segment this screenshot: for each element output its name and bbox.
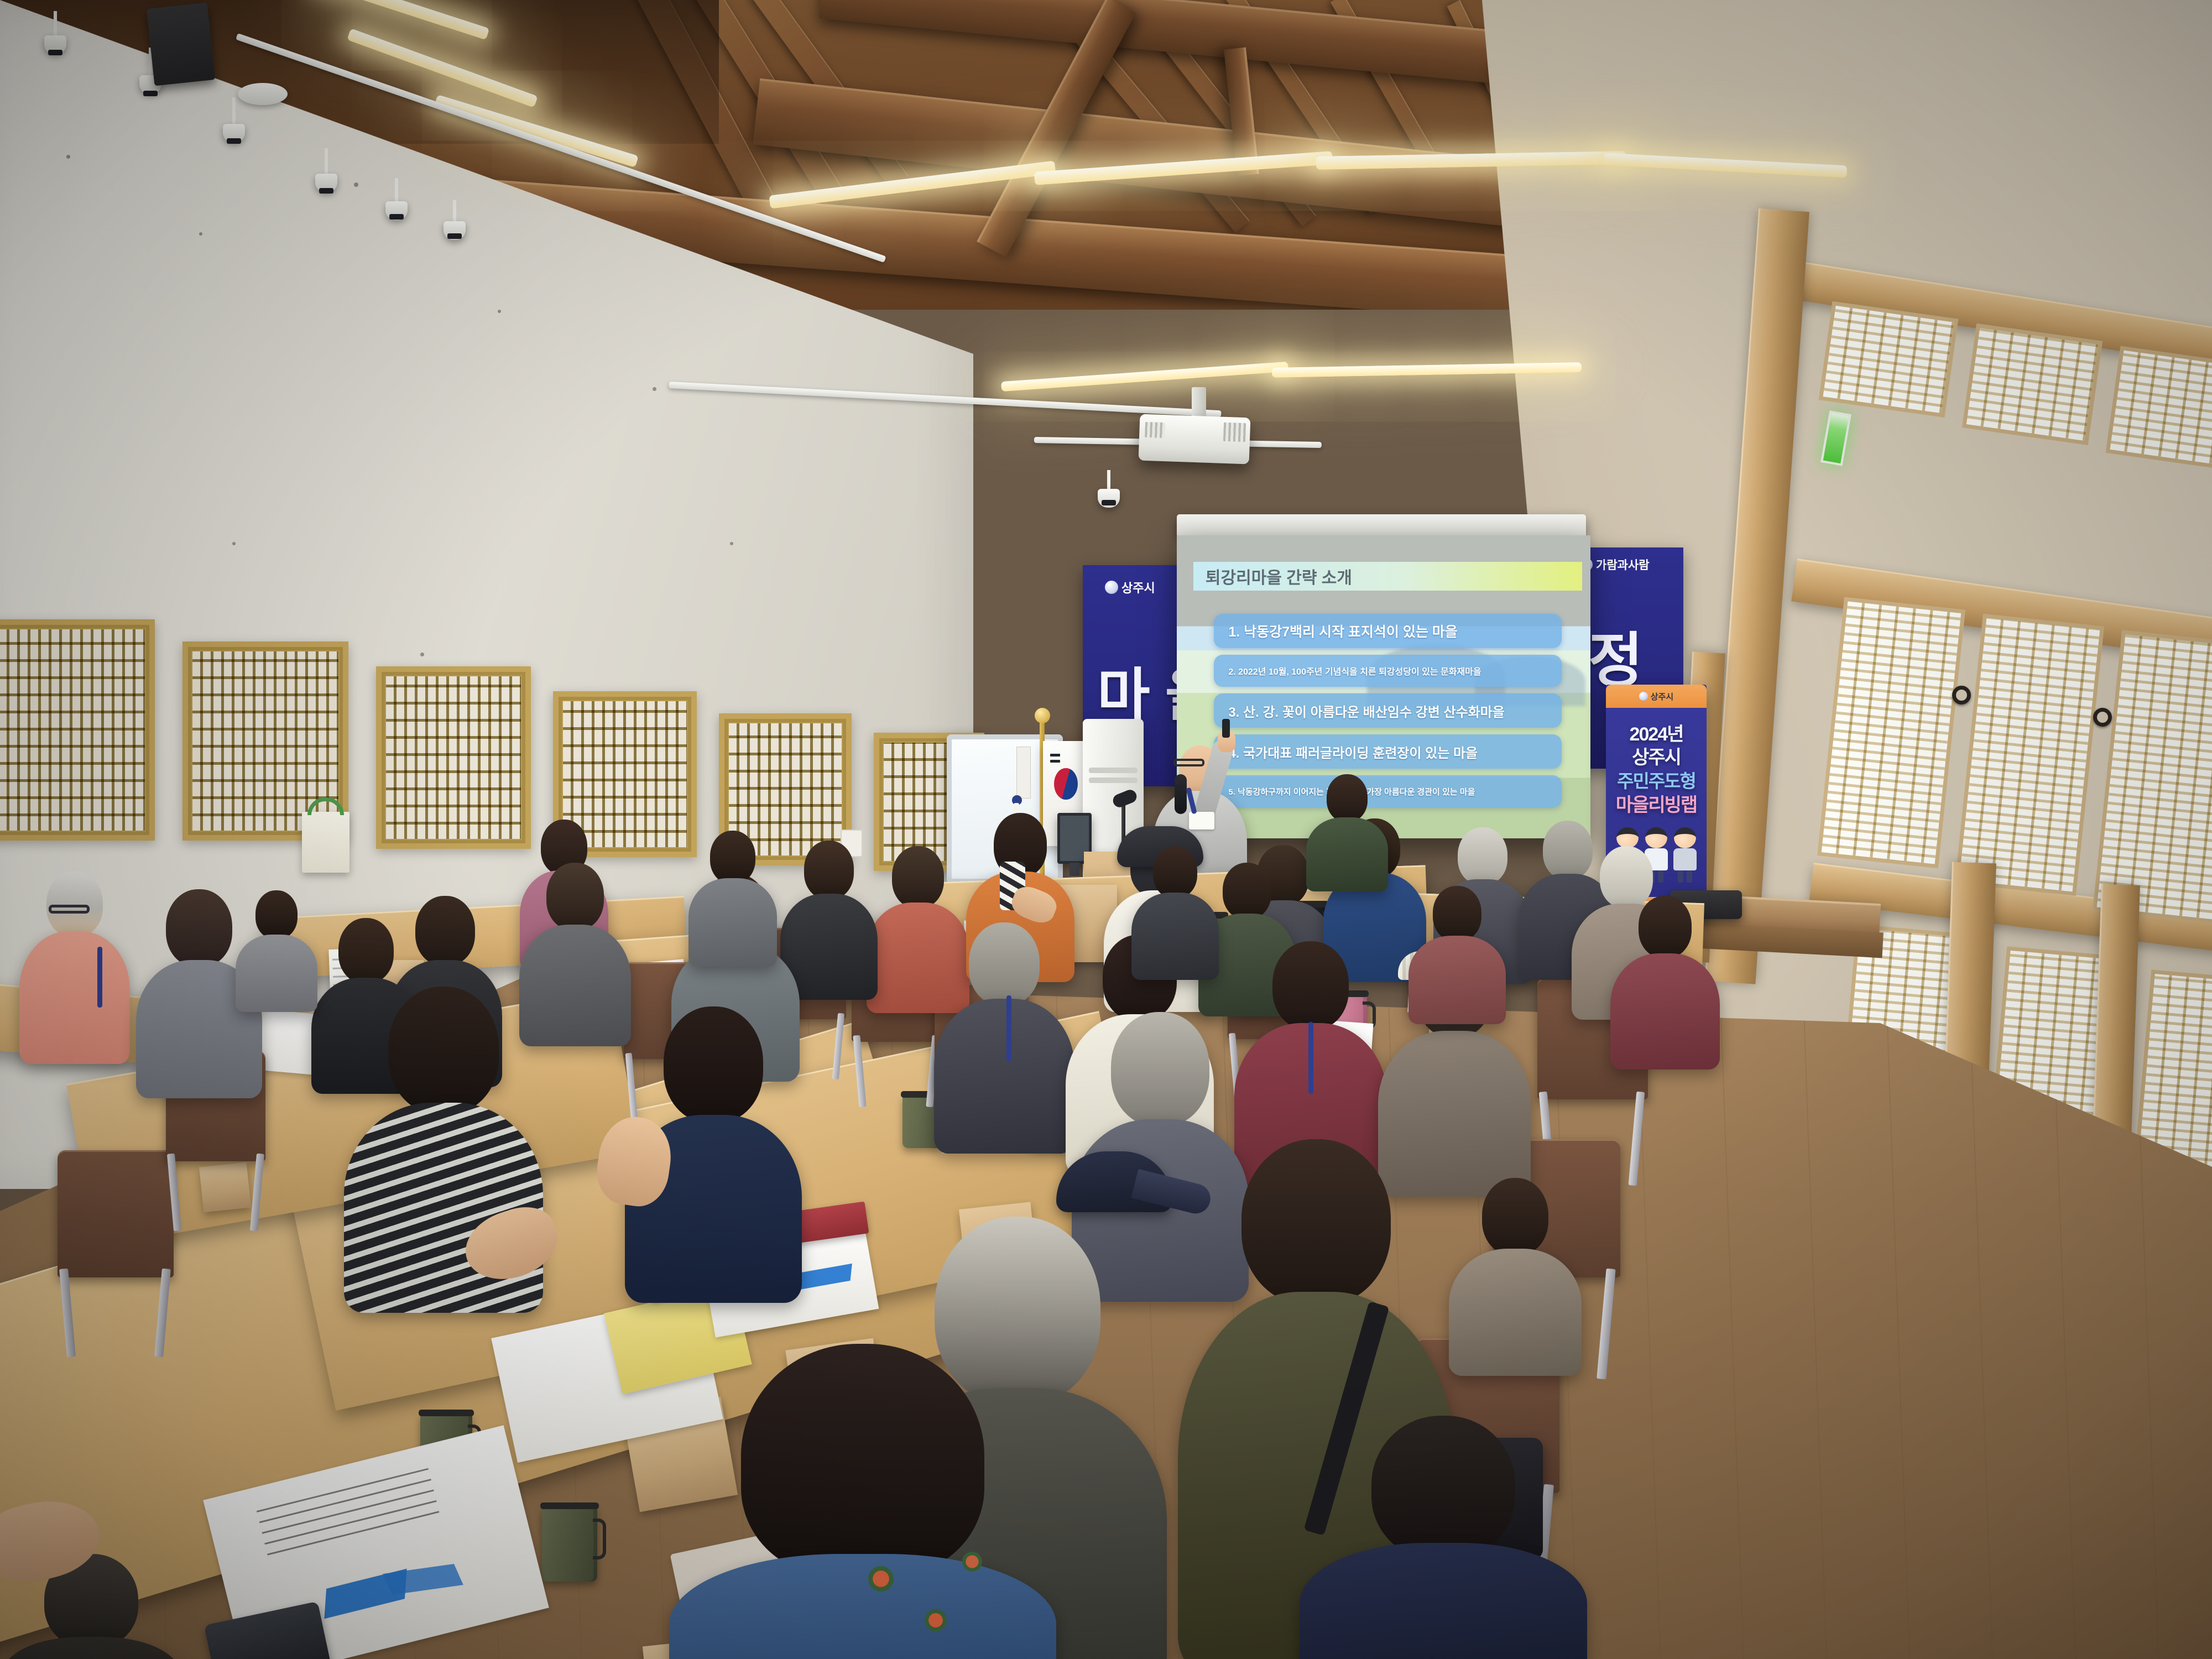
sangju-logo-text: 상주시 — [1121, 578, 1155, 596]
door-ring-handle-1[interactable] — [1952, 686, 1971, 705]
attendee-26-head — [1371, 1416, 1515, 1559]
attendee-29-head — [1153, 846, 1197, 898]
attendee-24-head — [1241, 1139, 1391, 1305]
attendee-1-lanyard — [97, 947, 102, 1008]
embroidered-flower-3 — [962, 1552, 982, 1572]
attendee-31 — [232, 890, 321, 1001]
attendee-20-torso — [344, 1103, 543, 1313]
attendee-1 — [11, 872, 138, 1054]
flag-trigram-2 — [1050, 760, 1060, 763]
attendee-33 — [1303, 774, 1391, 879]
smoke-detector — [238, 83, 288, 105]
spotlight-6 — [446, 200, 463, 241]
standing-banner-line-4: 마을리빙랩 — [1606, 790, 1707, 817]
tumbler-mug-5 — [542, 1506, 597, 1582]
attendee-34-head — [1639, 896, 1692, 958]
attendee-32-torso — [1449, 1249, 1582, 1376]
hanok-window-3 — [376, 666, 531, 849]
slide-bullet-2: 2. 2022년 10월, 100주년 기념식을 치른 퇴강성당이 있는 문화재… — [1214, 655, 1561, 687]
sangju-logo-left: 상주시 — [1105, 578, 1155, 596]
attendee-16-torso — [934, 999, 1074, 1154]
attendee-11-head — [1458, 827, 1507, 885]
kraft-box-9 — [199, 1162, 251, 1213]
attendee-31-torso — [236, 935, 317, 1012]
attendee-34-torso — [1610, 953, 1720, 1070]
attendee-25 — [664, 1344, 1062, 1659]
slide-bullet-3: 3. 산. 강. 꽃이 아름다운 배산임수 강변 산수화마을 — [1214, 693, 1561, 728]
attendee-2-head — [166, 889, 232, 967]
attendee-28-torso — [688, 878, 777, 967]
attendee-33-head — [1327, 774, 1368, 822]
ceiling-speaker — [147, 3, 215, 86]
embroidered-flower-1 — [868, 1566, 894, 1592]
attendee-8-head — [804, 841, 854, 899]
handheld-microphone[interactable] — [1175, 774, 1187, 814]
attendee-16-head — [969, 922, 1040, 1005]
attendee-26-torso — [1300, 1543, 1587, 1659]
slide-title-bar: 퇴강리마을 간략 소개 — [1193, 562, 1582, 591]
attendee-1-glasses — [49, 905, 90, 914]
slide-bullet-1-text: 1. 낙동강7백리 시작 표지석이 있는 마을 — [1214, 621, 1457, 641]
sangju-logo-mark-banner — [1639, 692, 1648, 701]
attendee-27-head — [1433, 886, 1481, 941]
slide-bullet-2-text: 2. 2022년 10월, 100주년 기념식을 치른 퇴강성당이 있는 문화재… — [1214, 664, 1481, 677]
presenter-name-badge — [1189, 812, 1214, 830]
spotlight-5 — [387, 178, 406, 223]
transom-panel-2 — [1962, 324, 2103, 445]
attendee-29-torso — [1131, 893, 1219, 980]
transom-panel-1 — [1819, 301, 1959, 418]
chair-1[interactable] — [58, 1150, 174, 1277]
attendee-28-head — [710, 831, 755, 884]
attendee-18-lanyard — [1308, 1022, 1313, 1094]
attendee-29 — [1128, 846, 1222, 973]
transom-panel-3 — [2106, 346, 2212, 470]
spotlight-3 — [223, 97, 244, 150]
attendee-21-head — [664, 1006, 763, 1123]
attendee-27 — [1405, 886, 1510, 1013]
tote-bag — [302, 812, 349, 873]
attendee-25-head — [741, 1344, 984, 1576]
attendee-32 — [1443, 1178, 1587, 1366]
meeting-room-photo: 상주시 마 을 기 가람과사람 정 퇴강리마을 간략 소개 1. 낙동강7백리 … — [0, 0, 2212, 1659]
attendee-14-head — [1223, 863, 1271, 919]
slide-title: 퇴강리마을 간략 소개 — [1193, 564, 1352, 588]
attendee-1-torso — [19, 931, 130, 1064]
door-ring-handle-2[interactable] — [2093, 708, 2112, 727]
presenter-glasses — [1173, 759, 1204, 766]
attendee-33-torso — [1306, 817, 1388, 891]
standing-banner-line-3: 주민주도형 — [1606, 766, 1707, 793]
standing-banner-top-cap: 상주시 — [1606, 685, 1707, 708]
slide-bullet-1: 1. 낙동강7백리 시작 표지석이 있는 마을 — [1214, 614, 1561, 648]
flag-taeguk — [1054, 768, 1077, 800]
attendee-34 — [1607, 896, 1723, 1056]
attendee-1-head — [46, 872, 103, 937]
embroidered-flower-2 — [925, 1609, 947, 1631]
ac-vent-2 — [1089, 778, 1138, 783]
attendee-27-torso — [1408, 936, 1506, 1024]
garam-logo-text: 가람과사람 — [1596, 556, 1650, 573]
attendee-6-head — [546, 863, 604, 930]
tube-light-8 — [1001, 362, 1288, 392]
ceiling-projector — [1139, 414, 1251, 465]
attendee-31-head — [255, 890, 298, 939]
attendee-16-lanyard — [1006, 995, 1011, 1062]
spotlight-7 — [1100, 470, 1117, 508]
spotlight-4 — [316, 148, 336, 199]
hanok-window-1 — [0, 619, 155, 841]
ac-vent-1 — [1089, 768, 1138, 773]
spotlight-1 — [44, 11, 66, 61]
attendee-25-torso — [669, 1554, 1056, 1659]
laser-pointer[interactable] — [1222, 719, 1230, 738]
attendee-18-head — [1272, 941, 1349, 1030]
slide-bullet-4: 4. 국가대표 패러글라이딩 훈련장이 있는 마을 — [1214, 734, 1561, 769]
attendee-20-head — [388, 987, 499, 1114]
standing-banner-top-logo: 상주시 — [1651, 691, 1673, 702]
attendee-5-head — [338, 918, 394, 983]
flag-pole-finial — [1035, 708, 1050, 723]
flag-trigram-1 — [1050, 754, 1060, 757]
attendee-28 — [686, 831, 780, 958]
standing-banner-line-2: 상주시 — [1606, 742, 1707, 769]
attendee-22-head — [1111, 1012, 1209, 1126]
attendee-7-head — [892, 846, 944, 908]
attendee-30-torso — [3, 1637, 180, 1659]
whiteboard-chart-strip — [1016, 747, 1031, 799]
screen-roller-case — [1177, 514, 1586, 538]
sangju-logo-mark — [1105, 581, 1118, 594]
attendee-16 — [927, 922, 1082, 1144]
attendee-32-head — [1482, 1178, 1548, 1255]
slide-bullet-3-text: 3. 산. 강. 꽃이 아름다운 배산임수 강변 산수화마을 — [1214, 701, 1505, 721]
attendee-26 — [1294, 1416, 1593, 1659]
